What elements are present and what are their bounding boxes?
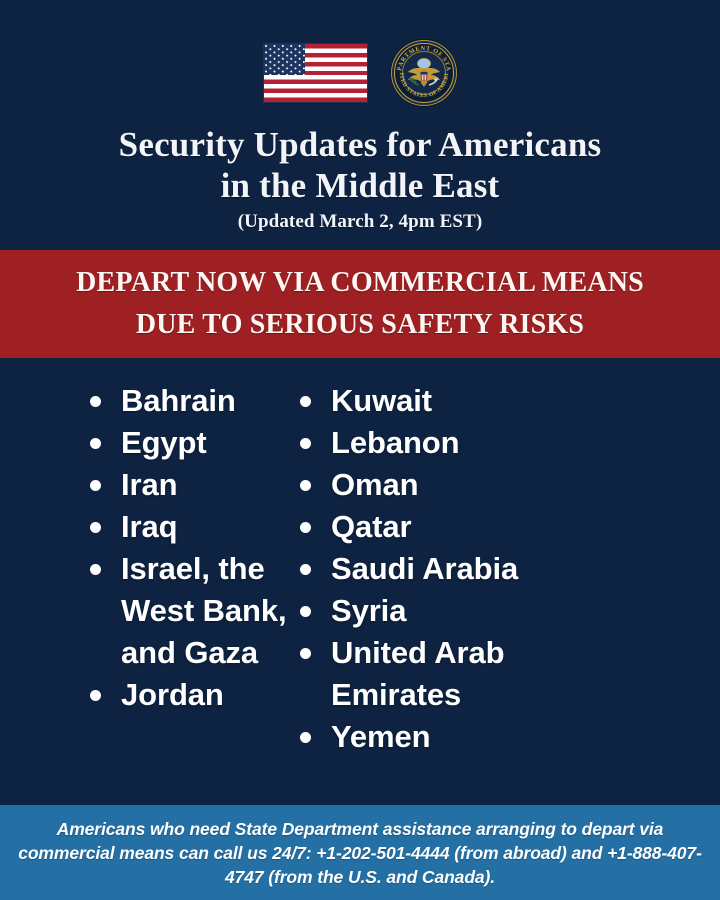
country-name: Kuwait	[331, 380, 640, 422]
bullet-icon	[300, 396, 311, 407]
list-item: Israel, the West Bank, and Gaza	[90, 548, 300, 674]
country-name: Saudi Arabia	[331, 548, 640, 590]
page-title-line-2: in the Middle East	[0, 165, 720, 206]
country-name: Jordan	[121, 674, 300, 716]
country-column-left: Bahrain Egypt Iran Iraq Israel, the West…	[0, 380, 300, 805]
country-name: Israel, the West Bank, and Gaza	[121, 548, 300, 674]
eagle-glyph-icon	[404, 57, 444, 91]
bullet-icon	[90, 396, 101, 407]
country-name: Iraq	[121, 506, 300, 548]
list-item: Oman	[300, 464, 640, 506]
country-name: United Arab Emirates	[331, 632, 640, 716]
country-name: Syria	[331, 590, 640, 632]
country-name: Yemen	[331, 716, 640, 758]
bullet-icon	[90, 690, 101, 701]
alert-banner: DEPART NOW VIA COMMERCIAL MEANS DUE TO S…	[0, 250, 720, 358]
assistance-text: Americans who need State Department assi…	[18, 817, 702, 889]
alert-line-1: DEPART NOW VIA COMMERCIAL MEANS	[76, 262, 644, 304]
bullet-icon	[90, 480, 101, 491]
list-item: Syria	[300, 590, 640, 632]
emblem-row: DEPARTMENT OF STATE UNITED STATES OF AME…	[0, 40, 720, 106]
bullet-icon	[300, 606, 311, 617]
list-item: Iraq	[90, 506, 300, 548]
list-item: Jordan	[90, 674, 300, 716]
country-name: Oman	[331, 464, 640, 506]
list-item: Egypt	[90, 422, 300, 464]
bullet-icon	[300, 648, 311, 659]
country-name: Iran	[121, 464, 300, 506]
country-name: Lebanon	[331, 422, 640, 464]
list-item: Bahrain	[90, 380, 300, 422]
bullet-icon	[300, 564, 311, 575]
country-name: Egypt	[121, 422, 300, 464]
country-column-right: Kuwait Lebanon Oman Qatar Saudi Arabia S…	[300, 380, 640, 805]
bullet-icon	[300, 732, 311, 743]
bullet-icon	[90, 564, 101, 575]
list-item: Kuwait	[300, 380, 640, 422]
update-timestamp: (Updated March 2, 4pm EST)	[0, 211, 720, 233]
bullet-icon	[300, 480, 311, 491]
page-title-line-1: Security Updates for Americans	[0, 124, 720, 165]
country-name: Qatar	[331, 506, 640, 548]
bullet-icon	[90, 522, 101, 533]
assistance-footer: Americans who need State Department assi…	[0, 805, 720, 900]
list-item: United Arab Emirates	[300, 632, 640, 716]
bullet-icon	[300, 438, 311, 449]
list-item: Lebanon	[300, 422, 640, 464]
us-flag-icon	[264, 44, 367, 102]
country-list: Bahrain Egypt Iran Iraq Israel, the West…	[0, 358, 720, 805]
bullet-icon	[90, 438, 101, 449]
country-name: Bahrain	[121, 380, 300, 422]
list-item: Saudi Arabia	[300, 548, 640, 590]
security-update-poster: DEPARTMENT OF STATE UNITED STATES OF AME…	[0, 0, 720, 900]
list-item: Iran	[90, 464, 300, 506]
alert-line-2: DUE TO SERIOUS SAFETY RISKS	[136, 304, 584, 346]
list-item: Yemen	[300, 716, 640, 758]
title-block: Security Updates for Americans in the Mi…	[0, 124, 720, 233]
poster-header: DEPARTMENT OF STATE UNITED STATES OF AME…	[0, 0, 720, 233]
department-of-state-seal-icon: DEPARTMENT OF STATE UNITED STATES OF AME…	[391, 40, 457, 106]
flag-stars	[264, 44, 305, 75]
bullet-icon	[300, 522, 311, 533]
list-item: Qatar	[300, 506, 640, 548]
